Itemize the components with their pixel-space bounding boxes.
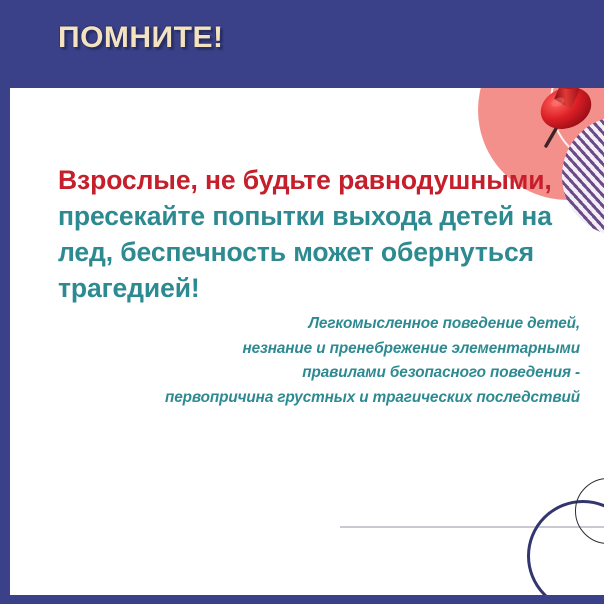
white-ring-shape xyxy=(550,88,604,168)
content-card: Взрослые, не будьте равнодушными, пресек… xyxy=(10,88,604,595)
subtext-line-2: незнание и пренебрежение элементарными xyxy=(72,337,580,362)
headline-line-1: Взрослые, не будьте равнодушными, xyxy=(58,165,552,195)
dark-outline-circle xyxy=(575,478,604,544)
subtext-block: Легкомысленное поведение детей, незнание… xyxy=(72,312,580,410)
poster-root: ПОМНИТЕ! xyxy=(0,0,604,604)
hatched-circle-shape xyxy=(562,116,604,236)
headline-block: Взрослые, не будьте равнодушными, пресек… xyxy=(58,162,568,306)
subtext-line-3: правилами безопасного поведения - xyxy=(72,361,580,386)
pushpin-icon xyxy=(518,88,604,168)
subtext-line-4: первопричина грустных и трагических посл… xyxy=(72,386,580,411)
horizontal-rule xyxy=(340,526,604,528)
subtext-line-1: Легкомысленное поведение детей, xyxy=(72,312,580,337)
banner-title: ПОМНИТЕ! xyxy=(58,21,223,55)
navy-outline-circle xyxy=(527,500,604,595)
headline-line-2: пресекайте попытки выхода детей xyxy=(58,201,514,231)
